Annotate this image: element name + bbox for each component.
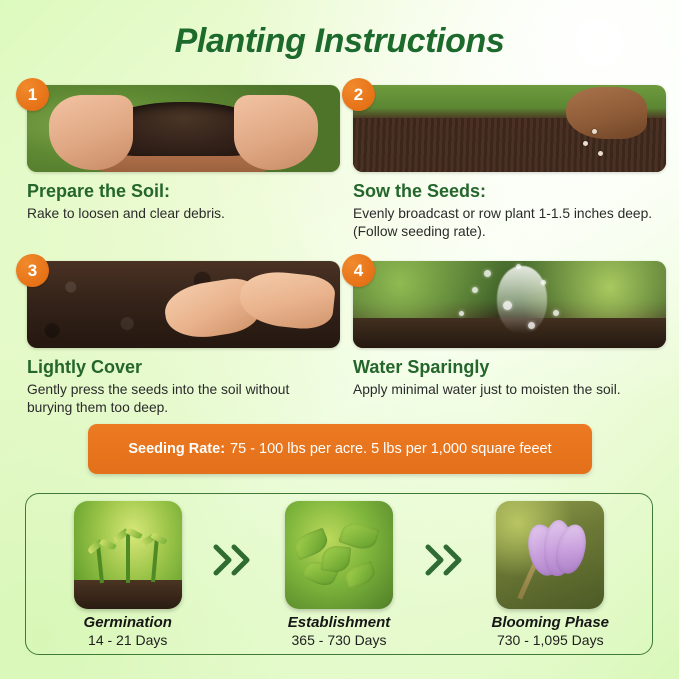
timeline-stage-germination: Germination 14 - 21 Days [52,501,203,648]
water-splashing-soil-photo [353,261,666,348]
step-photo-2 [353,85,666,172]
step-card-4: 4 Water Sparingly Apply minimal water ju… [342,254,666,418]
seedlings-sprouting-photo [74,501,182,609]
timeline-stage-establishment: Establishment 365 - 730 Days [263,501,414,648]
step-body-2: Evenly broadcast or row plant 1-1.5 inch… [353,205,653,242]
step-number-badge-4: 4 [342,254,375,287]
seeding-rate-label: Seeding Rate: [128,441,225,457]
timeline-name-germination: Germination [52,614,203,631]
step-body-3: Gently press the seeds into the soil wit… [27,381,327,418]
step-number-badge-2: 2 [342,78,375,111]
step-heading-1: Prepare the Soil: [27,181,340,202]
growth-timeline: Germination 14 - 21 Days Establishment 3… [25,493,653,655]
hand-sowing-seeds-photo [353,85,666,172]
step-number-badge-1: 1 [16,78,49,111]
timeline-name-blooming: Blooming Phase [475,614,626,631]
timeline-days-establishment: 365 - 730 Days [263,632,414,648]
step-heading-4: Water Sparingly [353,357,666,378]
step-number-badge-3: 3 [16,254,49,287]
hands-holding-soil-in-pot-photo [27,85,340,172]
double-chevron-right-icon [203,543,263,577]
hands-patting-soil-photo [27,261,340,348]
timeline-name-establishment: Establishment [263,614,414,631]
step-photo-3 [27,261,340,348]
step-body-4: Apply minimal water just to moisten the … [353,381,653,400]
step-photo-4 [353,261,666,348]
page-title: Planting Instructions [0,22,679,61]
timeline-thumb-establishment [285,501,393,609]
step-heading-3: Lightly Cover [27,357,340,378]
step-card-2: 2 Sow the Seeds: Evenly broadcast or row… [342,78,666,242]
step-photo-1 [27,85,340,172]
timeline-thumb-germination [74,501,182,609]
seeding-rate-banner: Seeding Rate: 75 - 100 lbs per acre. 5 l… [88,424,592,474]
step-card-3: 3 Lightly Cover Gently press the seeds i… [16,254,340,418]
double-chevron-right-icon-2 [415,543,475,577]
purple-flower-bloom-photo [496,501,604,609]
step-body-1: Rake to loosen and clear debris. [27,205,327,224]
planting-instructions-poster: Planting Instructions 1 Prepare the Soil… [0,0,679,679]
seeding-rate-value: 75 - 100 lbs per acre. 5 lbs per 1,000 s… [230,441,552,457]
step-heading-2: Sow the Seeds: [353,181,666,202]
timeline-days-germination: 14 - 21 Days [52,632,203,648]
timeline-thumb-blooming [496,501,604,609]
step-card-1: 1 Prepare the Soil: Rake to loosen and c… [16,78,340,242]
steps-grid: 1 Prepare the Soil: Rake to loosen and c… [16,78,666,418]
green-leafy-plant-photo [285,501,393,609]
timeline-days-blooming: 730 - 1,095 Days [475,632,626,648]
timeline-stage-blooming: Blooming Phase 730 - 1,095 Days [475,501,626,648]
